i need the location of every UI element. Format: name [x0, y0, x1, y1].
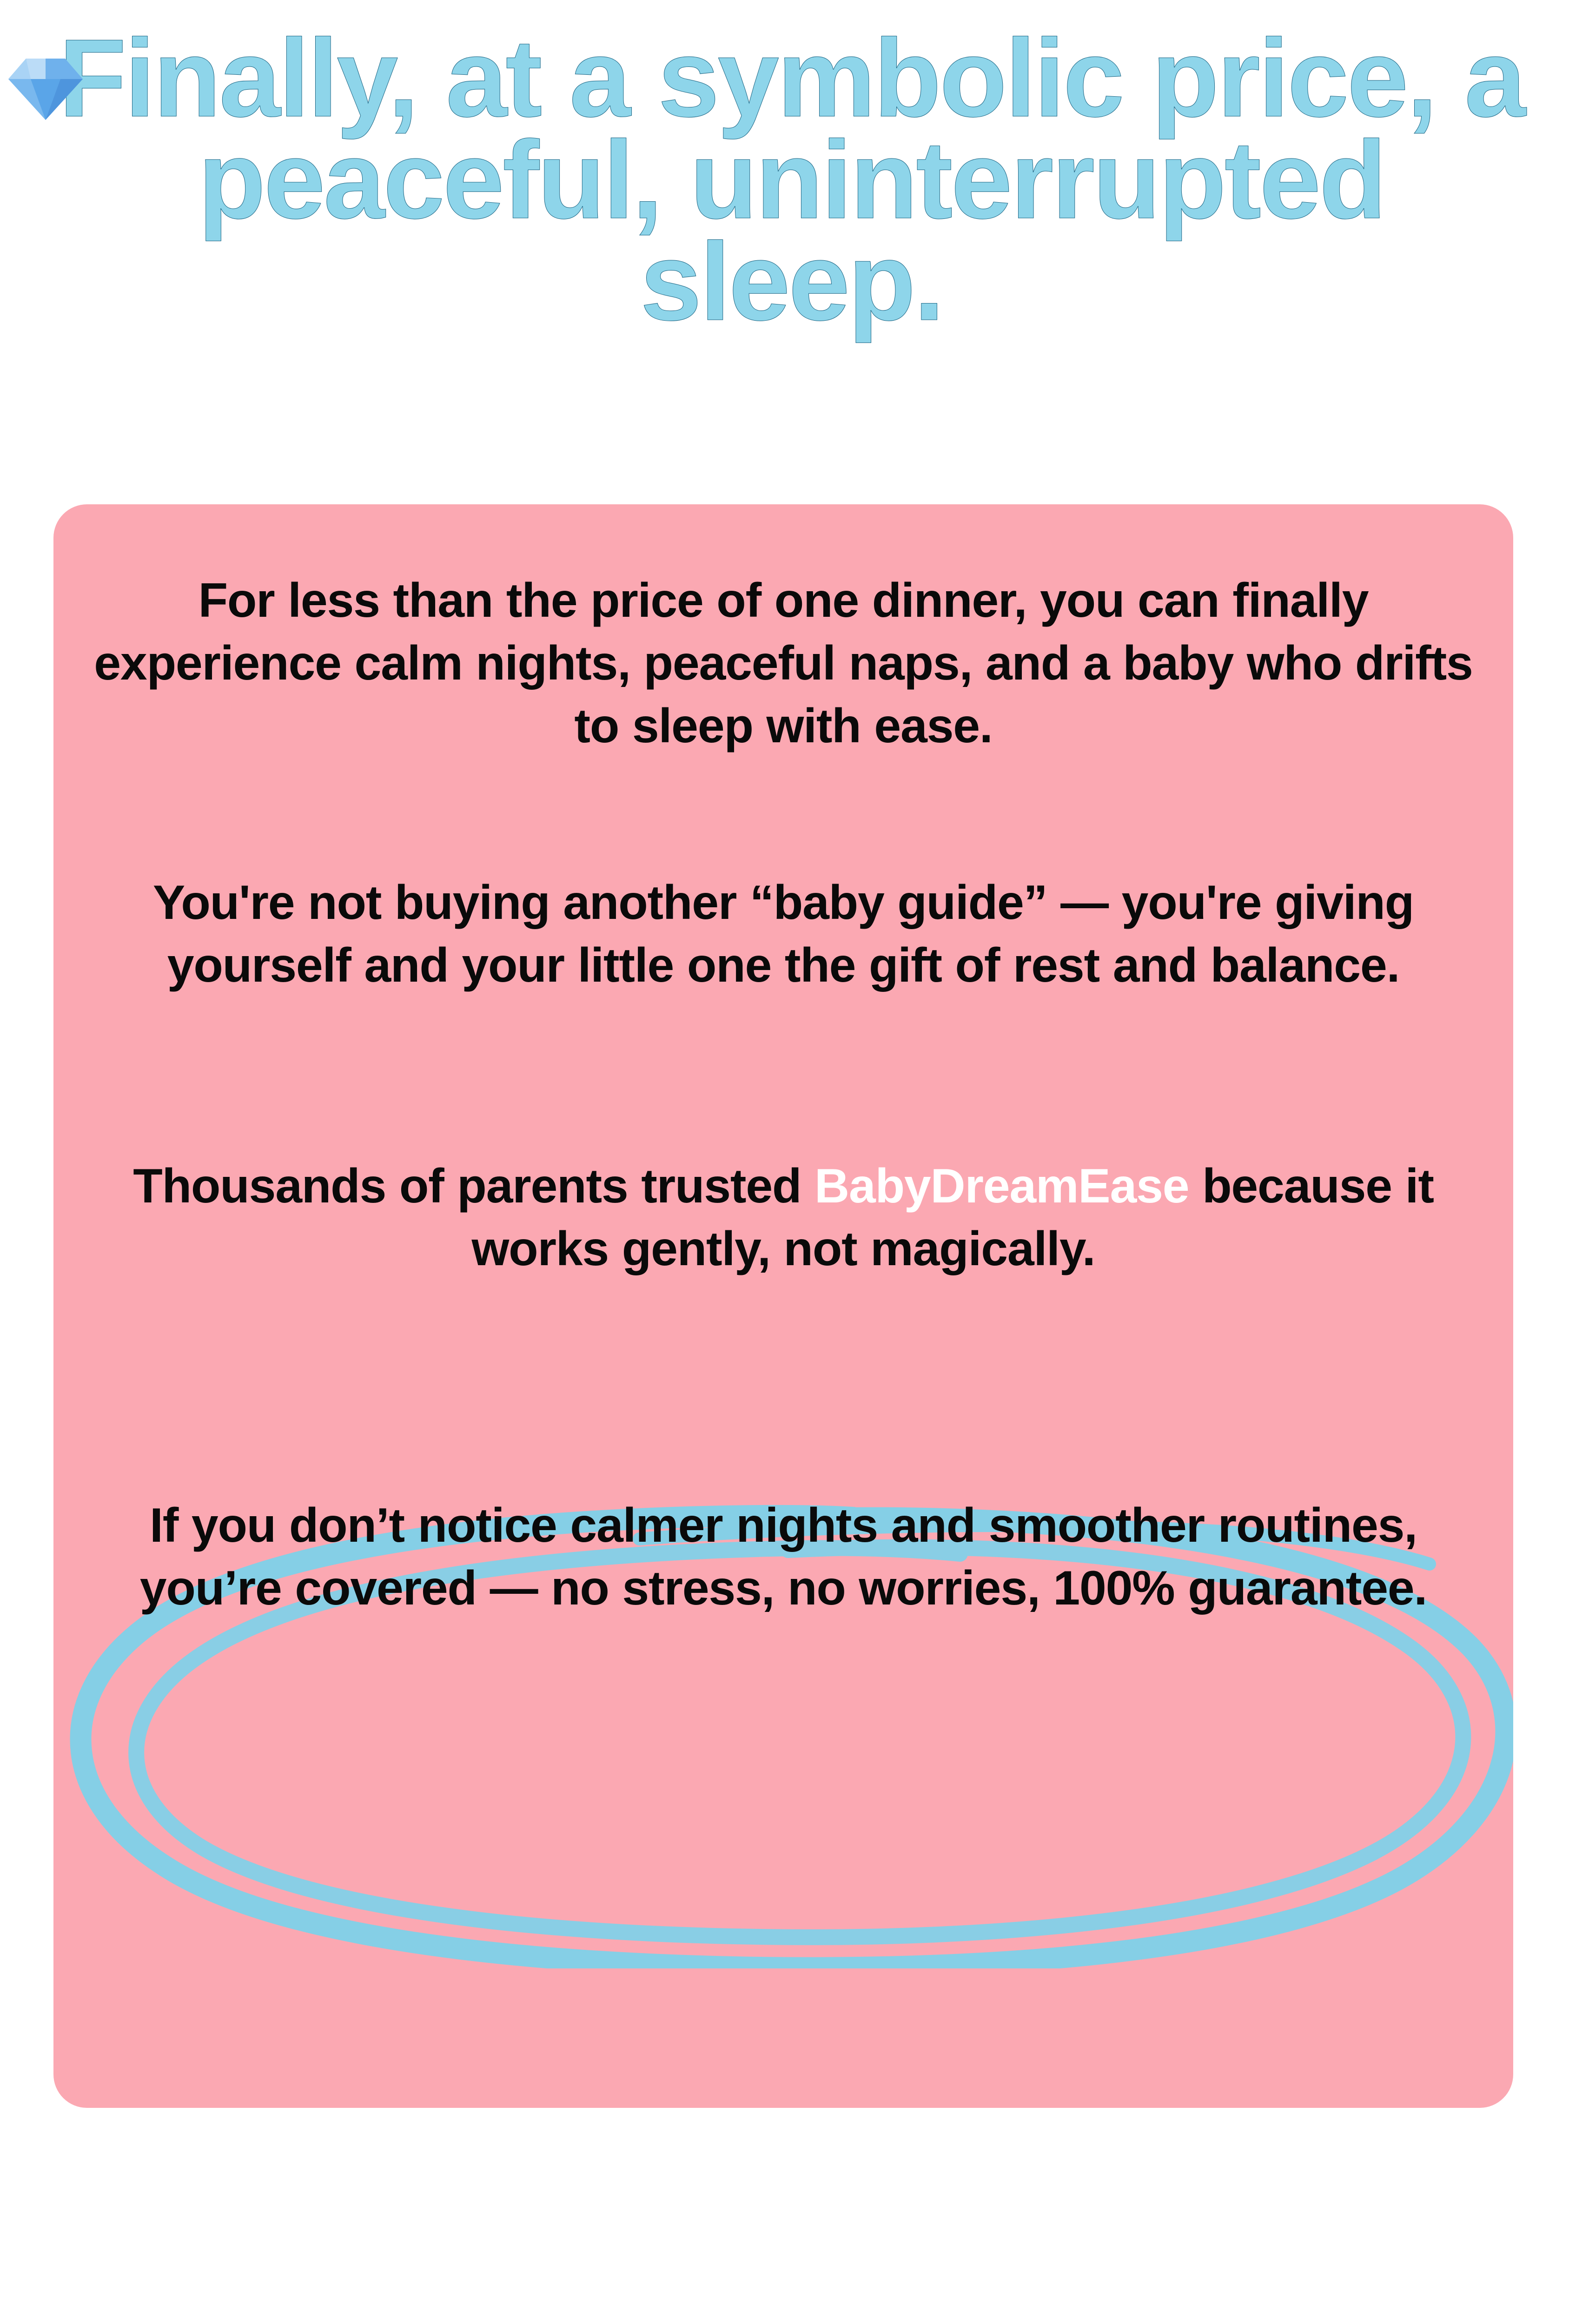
social-proof-text-before: Thousands of parents trusted [133, 1159, 814, 1213]
page-title: Finally, at a symbolic price, a peaceful… [0, 28, 1569, 333]
offer-card: For less than the price of one dinner, y… [53, 504, 1513, 2108]
diamond-icon [8, 50, 83, 120]
social-proof-paragraph: Thousands of parents trusted BabyDreamEa… [53, 1155, 1513, 1281]
value-paragraph: For less than the price of one dinner, y… [53, 569, 1513, 758]
positioning-paragraph: You're not buying another “baby guide” —… [53, 871, 1513, 997]
brand-name: BabyDreamEase [814, 1159, 1189, 1213]
headline-block: Finally, at a symbolic price, a peaceful… [0, 28, 1569, 333]
guarantee-paragraph: If you don’t notice calmer nights and sm… [53, 1494, 1513, 1620]
